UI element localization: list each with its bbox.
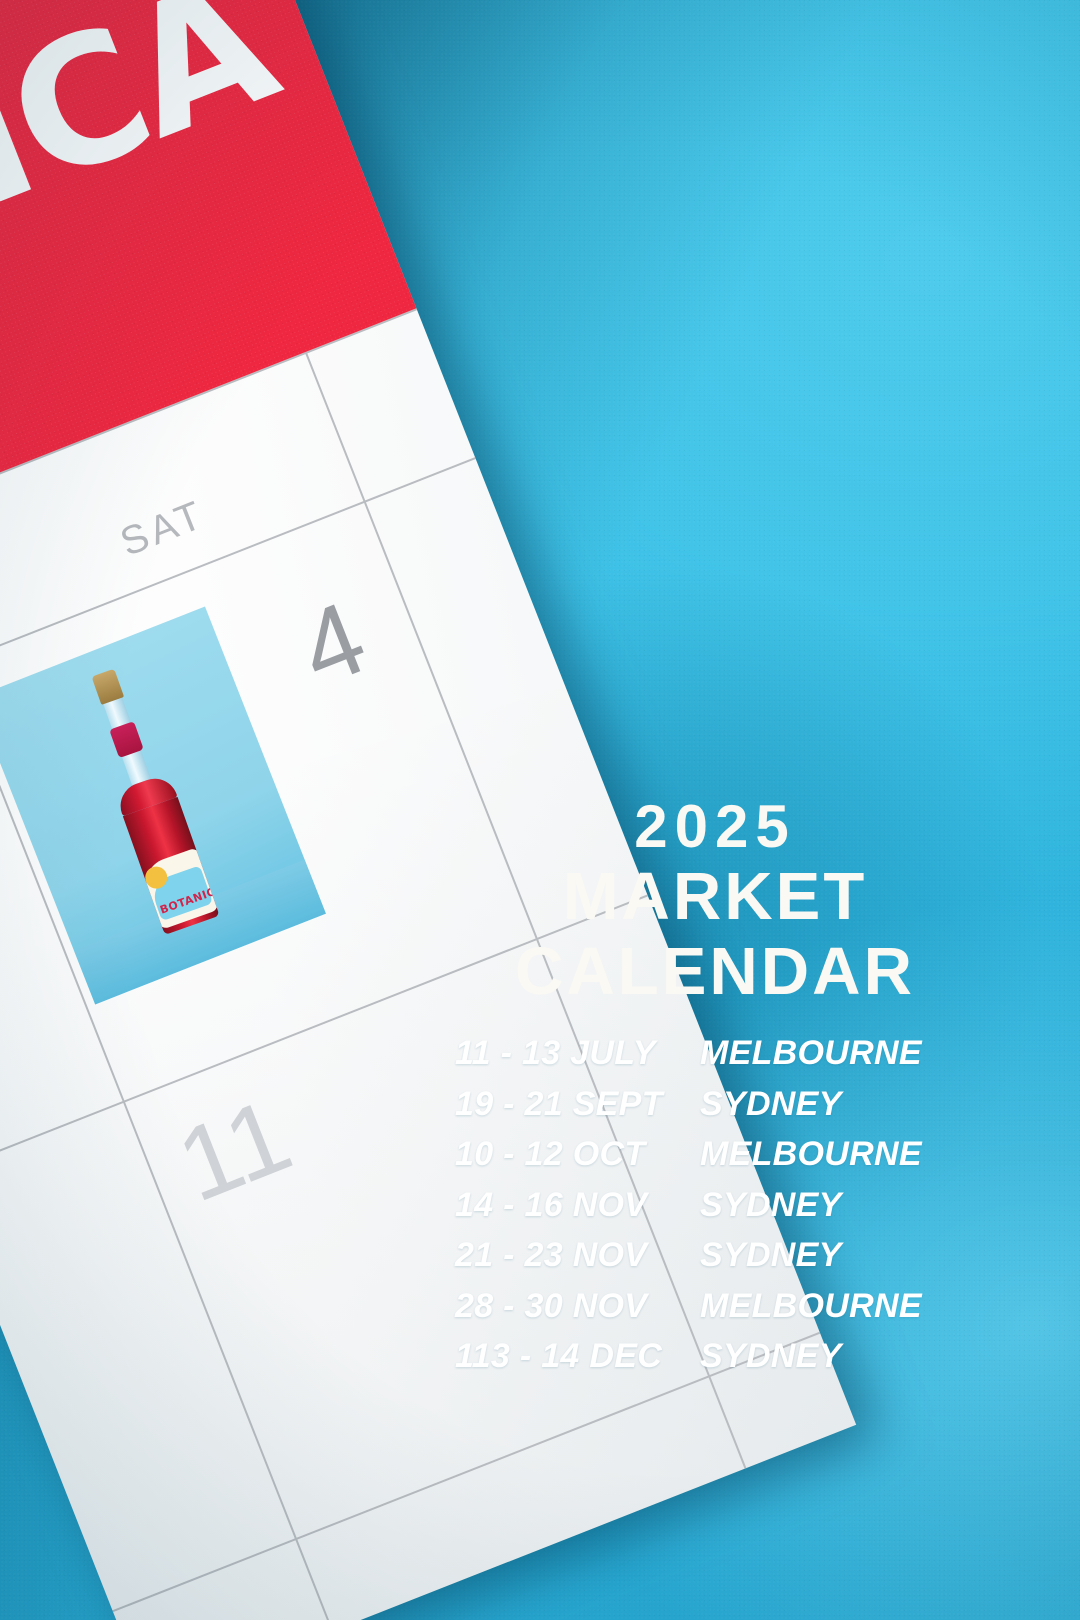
title-year: 2025 [430,795,1000,859]
schedule-row: 14 - 16 NOV SYDNEY [455,1186,1015,1237]
schedule-date: 113 - 14 DEC [455,1337,700,1376]
schedule-date: 10 - 12 OCT [455,1135,700,1174]
schedule-city: SYDNEY [700,1337,842,1376]
bottle-body: BOTANICA [123,797,220,935]
schedule-row: 10 - 12 OCT MELBOURNE [455,1135,1015,1186]
poster-root: FRI SAT 3 4 11 [0,0,1080,1620]
schedule-city: MELBOURNE [700,1034,922,1073]
title-line-calendar: CALENDAR [430,934,1000,1009]
bottle-label: BOTANICA [139,847,219,930]
schedule-row: 28 - 30 NOV MELBOURNE [455,1287,1015,1338]
schedule-city: SYDNEY [700,1186,842,1225]
title-block: 2025 MARKET CALENDAR [430,795,1000,1009]
schedule-city: MELBOURNE [700,1135,922,1174]
schedule-city: SYDNEY [700,1085,842,1124]
bottle-neck [103,698,151,786]
schedule-date: 14 - 16 NOV [455,1186,700,1225]
schedule-row: 113 - 14 DEC SYDNEY [455,1337,1015,1388]
schedule-row: 11 - 13 JULY MELBOURNE [455,1034,1015,1085]
schedule-row: 19 - 21 SEPT SYDNEY [455,1085,1015,1136]
schedule-city: SYDNEY [700,1236,842,1275]
schedule-date: 28 - 30 NOV [455,1287,700,1326]
liqueur-bottle: BOTANICA [74,662,222,935]
schedule-date: 11 - 13 JULY [455,1034,700,1073]
title-line-market: MARKET [430,859,1000,934]
schedule-city: MELBOURNE [700,1287,922,1326]
schedule-list: 11 - 13 JULY MELBOURNE 19 - 21 SEPT SYDN… [455,1034,1015,1388]
schedule-row: 21 - 23 NOV SYDNEY [455,1236,1015,1287]
schedule-date: 19 - 21 SEPT [455,1085,700,1124]
schedule-date: 21 - 23 NOV [455,1236,700,1275]
bottle-neck-seal [109,721,144,758]
